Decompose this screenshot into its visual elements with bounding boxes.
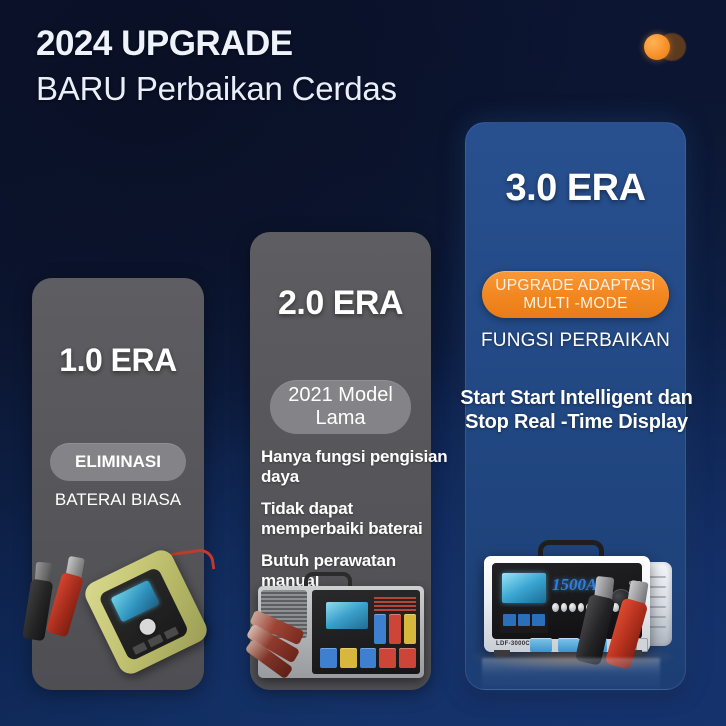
header: 2024 UPGRADE BARU Perbaikan Cerdas [36, 24, 596, 109]
era-card-3-title: 3.0 ERA [466, 167, 685, 210]
charger-face-panel [98, 566, 190, 661]
product-image-white-charger: 1500A ON OFF LDF-3000C [458, 540, 706, 692]
era-card-2-badge: 2021 Model Lama [270, 380, 411, 434]
charger-face-panel [312, 590, 420, 674]
button-row [132, 627, 179, 655]
header-subtitle: BARU Perbaikan Cerdas [36, 68, 596, 109]
button-row [320, 648, 416, 668]
list-item: Hanya fungsi pengisian daya [261, 447, 457, 488]
dot-accent-icon [644, 34, 670, 60]
era-card-3-description: Start Start Intelligent dan Stop Real -T… [459, 386, 694, 435]
orange-dot-icon [642, 33, 696, 63]
knob-icon [137, 616, 158, 637]
lcd-screen [502, 573, 546, 603]
product-image-yellow-charger [22, 550, 206, 672]
reflection-effect [482, 658, 660, 694]
red-clamp-icon [244, 620, 310, 682]
era-card-1-subtitle: BATERAI BIASA [34, 490, 202, 510]
era-card-2-title: 2.0 ERA [250, 284, 431, 323]
red-label-text [374, 597, 416, 611]
era-card-3-feature-label: FUNGSI PERBAIKAN [466, 330, 685, 352]
lcd-screen [110, 580, 160, 623]
era-card-1-title: 1.0 ERA [32, 342, 204, 379]
lcd-screen [326, 602, 368, 629]
header-title: 2024 UPGRADE [36, 24, 596, 64]
era-card-3-badge: UPGRADE ADAPTASI MULTI -MODE [482, 271, 669, 318]
promo-banner: 2024 UPGRADE BARU Perbaikan Cerdas 1.0 E… [0, 0, 726, 726]
button-row [374, 614, 416, 644]
sub-display-panel [500, 607, 548, 633]
list-item: Tidak dapat memperbaiki baterai [261, 499, 457, 540]
era-card-1-badge: ELIMINASI [50, 443, 186, 481]
product-image-grey-charger [252, 572, 430, 686]
model-number-label: LDF-3000C [496, 641, 530, 647]
